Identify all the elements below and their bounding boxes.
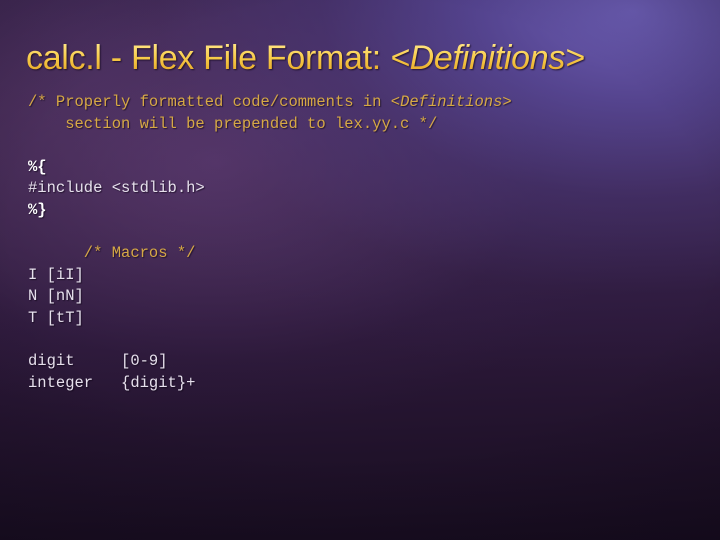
code-text: #include <stdlib.h> <box>28 179 205 197</box>
code-line-macro-n: N [nN] <box>28 286 704 308</box>
code-text: N [nN] <box>28 287 84 305</box>
code-text: %} <box>28 201 47 219</box>
code-line-blank-line-2 <box>28 222 704 244</box>
code-emphasis: <Definitions> <box>391 93 512 111</box>
slide-title: calc.l - Flex File Format: <Definitions> <box>26 35 698 81</box>
code-line-macro-integer: integer {digit}+ <box>28 373 704 395</box>
code-line-comment-line-2: section will be prepended to lex.yy.c */ <box>28 114 704 136</box>
code-line-blank-line-1 <box>28 135 704 157</box>
code-line-macro-i: I [iI] <box>28 265 704 287</box>
code-line-macro-t: T [tT] <box>28 308 704 330</box>
code-text: /* Properly formatted code/comments in <box>28 93 391 111</box>
code-text: section will be prepended to lex.yy.c */ <box>28 115 437 133</box>
code-text: I [iI] <box>28 266 84 284</box>
code-line-block-close: %} <box>28 200 704 222</box>
code-line-include-stdlib: #include <stdlib.h> <box>28 178 704 200</box>
code-block: /* Properly formatted code/comments in <… <box>28 92 704 394</box>
code-line-comment-line-1: /* Properly formatted code/comments in <… <box>28 92 704 114</box>
code-text: integer {digit}+ <box>28 374 195 392</box>
code-line-macro-digit: digit [0-9] <box>28 351 704 373</box>
slide-title-emphasis: <Definitions> <box>390 39 585 77</box>
code-text: %{ <box>28 158 47 176</box>
code-line-comment-macros: /* Macros */ <box>28 243 704 265</box>
code-text: /* Macros */ <box>28 244 195 262</box>
presentation-slide: calc.l - Flex File Format: <Definitions>… <box>0 0 720 540</box>
code-line-block-open: %{ <box>28 157 704 179</box>
slide-title-prefix: calc.l - Flex File Format: <box>26 39 390 77</box>
code-text: T [tT] <box>28 309 84 327</box>
code-line-blank-line-3 <box>28 330 704 352</box>
code-text: digit [0-9] <box>28 352 168 370</box>
